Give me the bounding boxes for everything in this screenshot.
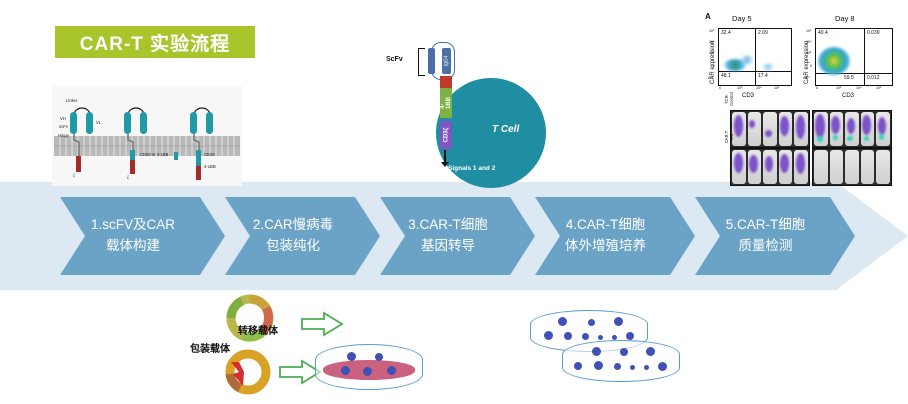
imaging-grid-r2c2 bbox=[812, 148, 892, 186]
dish-cell bbox=[630, 365, 635, 370]
mouse-image bbox=[794, 112, 808, 146]
label-scfv: scFv bbox=[59, 124, 68, 129]
mouse-image bbox=[779, 150, 793, 184]
dish-cell bbox=[646, 347, 655, 356]
dish-cell bbox=[644, 365, 649, 370]
scfv-domain-left bbox=[428, 48, 435, 74]
label-cd28-or-41bb: CD28 or 4-1BB bbox=[140, 152, 168, 157]
process-step-3[interactable]: 3.CAR-T细胞 基因转导 bbox=[380, 197, 510, 275]
label-vh: VH bbox=[60, 116, 66, 121]
page-title: CAR-T 实验流程 bbox=[80, 29, 230, 56]
process-step-4[interactable]: 4.CAR-T细胞 体外增殖培养 bbox=[535, 197, 670, 275]
y-tick-day5-4: -10³ bbox=[706, 76, 712, 80]
label-zeta-1: ζ bbox=[73, 173, 75, 178]
x-axis-label-day5: CD3 bbox=[742, 93, 754, 99]
mouse-image bbox=[814, 112, 828, 146]
signal-arrow-icon bbox=[444, 150, 446, 162]
process-step-4-label: 4.CAR-T细胞 体外增殖培养 bbox=[559, 215, 646, 257]
label-tcell: T Cell bbox=[492, 124, 519, 135]
flow-plot-day8: 40.4 0.039 59.5 0.012 bbox=[815, 28, 893, 86]
y-tick-day5-3: 0 bbox=[713, 64, 715, 68]
dish-cell bbox=[594, 361, 603, 370]
dish-rim bbox=[562, 340, 680, 382]
mouse-image bbox=[732, 150, 746, 184]
label-41bb: 4-1BB bbox=[204, 164, 216, 169]
dish-cell bbox=[626, 332, 634, 340]
label-zeta-tcell: ζ bbox=[430, 123, 434, 132]
quadrant-value-day5-ll: 48.1 bbox=[721, 73, 731, 79]
quadrant-value-day8-ur: 0.039 bbox=[867, 30, 880, 36]
mouse-image bbox=[779, 112, 793, 146]
dish-cell bbox=[614, 317, 623, 326]
dish-cell bbox=[574, 362, 582, 370]
mouse-image bbox=[763, 112, 777, 146]
car-generations-figure: Linker VH VL scFv Hinge CD28 or 4-1BB CD… bbox=[52, 86, 242, 186]
costim-domain-label: 4-1BB bbox=[440, 97, 452, 109]
label-cd28: CD28 bbox=[204, 152, 215, 157]
dish-cell bbox=[387, 366, 396, 375]
quadrant-value-day5-lr: 17.4 bbox=[758, 73, 768, 79]
process-step-5[interactable]: 5.CAR-T细胞 质量检测 bbox=[695, 197, 830, 275]
dish-cell bbox=[375, 353, 383, 361]
label-vl: VL bbox=[96, 120, 101, 125]
label-linker: Linker bbox=[66, 98, 77, 103]
bioluminescence-imaging-panel: TCR- Control CAR T ted bbox=[718, 108, 900, 186]
mouse-image bbox=[876, 112, 890, 146]
plot-title-day5: Day 5 bbox=[732, 14, 752, 23]
quadrant-value-day8-ll: 59.5 bbox=[844, 75, 854, 81]
quadrant-value-day5-ul: 32.4 bbox=[721, 30, 731, 36]
quadrant-vline-day8 bbox=[864, 29, 865, 85]
imaging-grid-r2c1 bbox=[730, 148, 810, 186]
process-step-2[interactable]: 2.CAR慢病毒 包装纯化 bbox=[225, 197, 355, 275]
costim-domain: 4-1BB bbox=[440, 88, 452, 118]
process-step-1[interactable]: 1.scFV及CAR 载体构建 bbox=[60, 197, 200, 275]
mouse-image bbox=[830, 112, 844, 146]
quadrant-hline-day5 bbox=[719, 71, 791, 72]
flow-density-blob-day8-main bbox=[818, 47, 850, 75]
culture-dish-expansion-2 bbox=[562, 340, 680, 380]
flow-density-blob-day5-2 bbox=[739, 55, 755, 65]
x-tick-day5-1: 10³ bbox=[737, 86, 742, 90]
dish-cell bbox=[588, 319, 595, 326]
page-title-banner: CAR-T 实验流程 bbox=[55, 26, 255, 58]
dish-cell bbox=[620, 348, 628, 356]
x-tick-day5-3: 10⁵ bbox=[774, 86, 780, 90]
cd3zeta-domain-label: CD3ζ bbox=[443, 128, 449, 143]
packaging-vector-label: 包装载体 bbox=[190, 340, 230, 355]
flow-density-blob-day5-3 bbox=[761, 63, 775, 71]
dish-cell bbox=[658, 362, 667, 371]
y-tick-day8-3: 0 bbox=[810, 64, 812, 68]
x-tick-day8-0: 0 bbox=[816, 86, 818, 90]
mouse-image bbox=[748, 150, 762, 184]
mouse-image bbox=[748, 112, 762, 146]
transfer-vector-label: 转移载体 bbox=[238, 322, 278, 337]
tcell-car-figure: ScFv IgG4 4-1BB CD3ζ Co-stim1 ζ T Cell S… bbox=[380, 20, 565, 185]
x-tick-day8-3: 10⁵ bbox=[876, 86, 882, 90]
mouse-image bbox=[845, 150, 859, 184]
dish-cell bbox=[347, 352, 356, 361]
flow-plot-day5: 32.4 2.09 48.1 17.4 bbox=[718, 28, 792, 86]
imaging-grid-r1c2 bbox=[812, 110, 892, 148]
y-tick-day5-0: 10⁵ bbox=[709, 29, 715, 33]
mouse-image bbox=[876, 150, 890, 184]
imaging-grid-r1c1 bbox=[730, 110, 810, 148]
mouse-image bbox=[732, 112, 746, 146]
mouse-image bbox=[794, 150, 808, 184]
culture-dish-transduction bbox=[315, 344, 423, 388]
y-tick-day8-2: 10³ bbox=[806, 51, 811, 55]
process-step-3-label: 3.CAR-T细胞 基因转导 bbox=[402, 215, 488, 257]
x-tick-day8-2: 10⁴ bbox=[856, 86, 862, 90]
process-step-1-label: 1.scFV及CAR 载体构建 bbox=[85, 215, 175, 257]
label-hinge: Hinge bbox=[58, 133, 69, 138]
mouse-image bbox=[861, 112, 875, 146]
y-tick-day5-2: 10³ bbox=[709, 51, 714, 55]
process-step-2-label: 2.CAR慢病毒 包装纯化 bbox=[247, 215, 333, 257]
label-costim: Co-stim1 bbox=[396, 97, 424, 104]
label-zeta-2: ζ bbox=[127, 175, 129, 180]
poster-canvas: CAR-T 实验流程 bbox=[0, 0, 908, 404]
x-tick-day5-0: 0 bbox=[719, 86, 721, 90]
quadrant-value-day8-lr: 0.012 bbox=[867, 75, 880, 81]
y-tick-day8-4: -10³ bbox=[803, 76, 809, 80]
mouse-image bbox=[830, 150, 844, 184]
label-signals: Signals 1 and 2 bbox=[448, 165, 495, 172]
y-tick-day8-1: 10⁴ bbox=[806, 40, 812, 44]
scfv-bracket bbox=[418, 48, 425, 76]
label-scfv-tcell: ScFv bbox=[386, 56, 403, 63]
x-tick-day8-1: 10³ bbox=[836, 86, 841, 90]
mouse-image bbox=[861, 150, 875, 184]
dish-cell bbox=[592, 347, 601, 356]
hinge-domain bbox=[440, 76, 452, 88]
green-arrow-icon-1 bbox=[300, 310, 344, 338]
ig-domain-label: IgG4 bbox=[444, 56, 450, 67]
quadrant-vline-day5 bbox=[755, 29, 756, 85]
plot-title-day8: Day 8 bbox=[835, 14, 855, 23]
mouse-image bbox=[845, 112, 859, 146]
mouse-image bbox=[814, 150, 828, 184]
dish-cell bbox=[564, 332, 572, 340]
cd3zeta-domain: CD3ζ bbox=[440, 121, 452, 149]
dish-cell bbox=[614, 363, 621, 370]
quadrant-value-day5-ur: 2.09 bbox=[758, 30, 768, 36]
dish-cell bbox=[582, 333, 589, 340]
mouse-image bbox=[763, 150, 777, 184]
scfv-domain-right: IgG4 bbox=[442, 48, 451, 74]
dish-cell bbox=[341, 366, 350, 375]
quadrant-value-day8-ul: 40.4 bbox=[818, 30, 828, 36]
panel-letter: A bbox=[705, 12, 711, 21]
dish-cell bbox=[544, 331, 553, 340]
y-tick-day5-1: 10⁴ bbox=[709, 40, 715, 44]
x-tick-day5-2: 10⁴ bbox=[756, 86, 762, 90]
process-step-5-label: 5.CAR-T细胞 质量检测 bbox=[720, 215, 806, 257]
x-axis-label-day8: CD3 bbox=[842, 93, 854, 99]
dish-cell bbox=[363, 367, 372, 376]
dish-cell bbox=[558, 317, 567, 326]
car-generations-svg bbox=[52, 86, 242, 186]
y-tick-day8-0: 10⁵ bbox=[806, 29, 812, 33]
